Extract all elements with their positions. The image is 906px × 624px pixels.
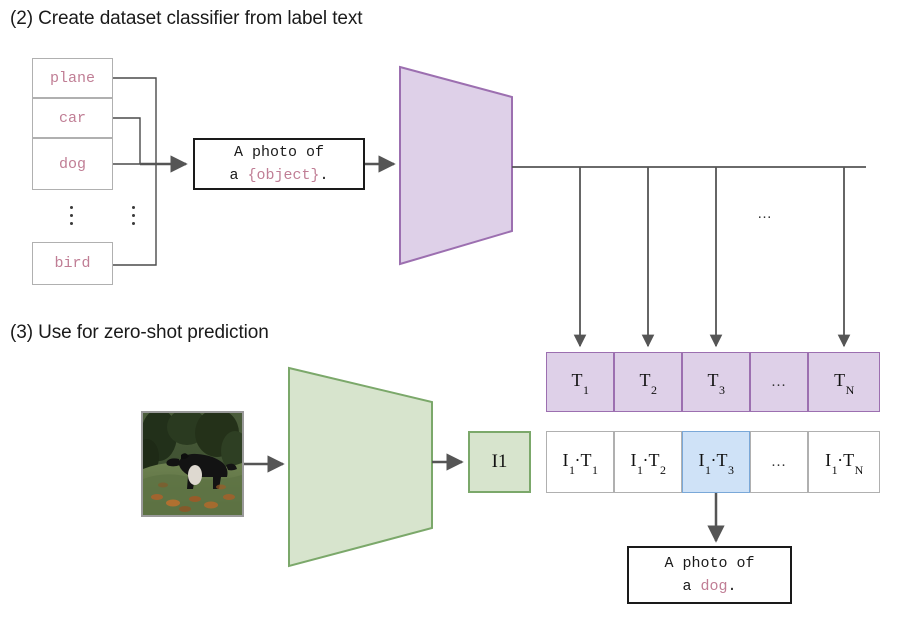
prompt-line2-suffix: . (320, 167, 329, 184)
label-bracket-lines (113, 78, 156, 265)
output-line-2: a dog. (682, 575, 736, 598)
text-embedding-cell-n[interactable]: TN (808, 352, 880, 412)
connector-overlay (0, 0, 906, 624)
sim2-left: I (631, 450, 637, 470)
label-text-car: car (59, 110, 86, 127)
label-box-bird[interactable]: bird (32, 242, 113, 285)
connector-ellipsis (132, 203, 135, 227)
t2-symbol: T (640, 370, 651, 390)
image-embedding-box[interactable]: I1 (468, 431, 531, 493)
prompt-line-1: A photo of (234, 141, 324, 164)
sim2-right-sub: 2 (660, 463, 666, 477)
image-encoder-line-1: Image (290, 440, 420, 461)
tn-symbol: T (834, 370, 845, 390)
t1-symbol: T (572, 370, 583, 390)
sim1-right-sub: 1 (592, 463, 598, 477)
label-list-ellipsis (70, 203, 73, 227)
label-text-bird: bird (54, 255, 90, 272)
image-encoder-label: Image Encoder (290, 440, 420, 482)
sim3-right: T (717, 450, 728, 470)
sim1-left: I (563, 450, 569, 470)
similarity-cell-2[interactable]: I1·T2 (614, 431, 682, 493)
text-embedding-cell-ellipsis: … (750, 352, 808, 412)
photo-graphic (143, 413, 242, 515)
similarity-cell-n[interactable]: I1·TN (808, 431, 880, 493)
image-encoder-line-2: Encoder (290, 461, 420, 482)
prediction-output-box[interactable]: A photo of a dog. (627, 546, 792, 604)
output-line2-prefix: a (682, 578, 700, 595)
text-encoder-label: Text Encoder (400, 145, 530, 187)
text-encoder-line-1: Text (400, 145, 530, 166)
tn-subscript: N (846, 383, 855, 397)
sim-ellipsis-symbol: … (771, 454, 787, 471)
label-box-car[interactable]: car (32, 98, 113, 138)
similarity-cell-1[interactable]: I1·T1 (546, 431, 614, 493)
similarity-cell-3-selected[interactable]: I1·T3 (682, 431, 750, 493)
simn-right: T (843, 450, 854, 470)
text-embedding-cell-1[interactable]: T1 (546, 352, 614, 412)
i1-subscript: 1 (498, 451, 508, 472)
label-text-plane: plane (50, 70, 95, 87)
bus-down-arrows (580, 167, 844, 346)
t3-symbol: T (708, 370, 719, 390)
section-title-step2: (2) Create dataset classifier from label… (10, 8, 362, 30)
output-predicted-label: dog (700, 578, 727, 595)
text-embedding-cell-2[interactable]: T2 (614, 352, 682, 412)
sim2-left-sub: 1 (637, 463, 643, 477)
sim2-right: T (649, 450, 660, 470)
input-photo[interactable] (141, 411, 244, 517)
bus-ellipsis: … (757, 205, 773, 222)
label-box-plane[interactable]: plane (32, 58, 113, 98)
prompt-line2-prefix: a (229, 167, 247, 184)
section-title-step3: (3) Use for zero-shot prediction (10, 322, 269, 344)
prompt-template-box[interactable]: A photo of a {object}. (193, 138, 365, 190)
text-encoder-shape[interactable] (400, 67, 512, 264)
sim3-left: I (699, 450, 705, 470)
prompt-object-slot: {object} (247, 167, 319, 184)
simn-right-sub: N (855, 463, 864, 477)
sim3-right-sub: 3 (728, 463, 734, 477)
simn-left-sub: 1 (832, 463, 838, 477)
text-encoder-line-2: Encoder (400, 166, 530, 187)
text-embedding-cell-3[interactable]: T3 (682, 352, 750, 412)
t-ellipsis-symbol: … (771, 374, 787, 391)
output-line-1: A photo of (664, 552, 754, 575)
sim3-left-sub: 1 (705, 463, 711, 477)
label-text-dog: dog (59, 156, 86, 173)
prompt-line-2: a {object}. (229, 164, 328, 187)
t1-subscript: 1 (583, 383, 589, 397)
image-encoder-shape[interactable] (289, 368, 432, 566)
similarity-cell-ellipsis: … (750, 431, 808, 493)
t2-subscript: 2 (651, 383, 657, 397)
sim1-left-sub: 1 (569, 463, 575, 477)
simn-left: I (825, 450, 831, 470)
t3-subscript: 3 (719, 383, 725, 397)
label-box-dog[interactable]: dog (32, 138, 113, 190)
diagram-canvas: (2) Create dataset classifier from label… (0, 0, 906, 624)
sim1-right: T (581, 450, 592, 470)
output-line2-suffix: . (728, 578, 737, 595)
